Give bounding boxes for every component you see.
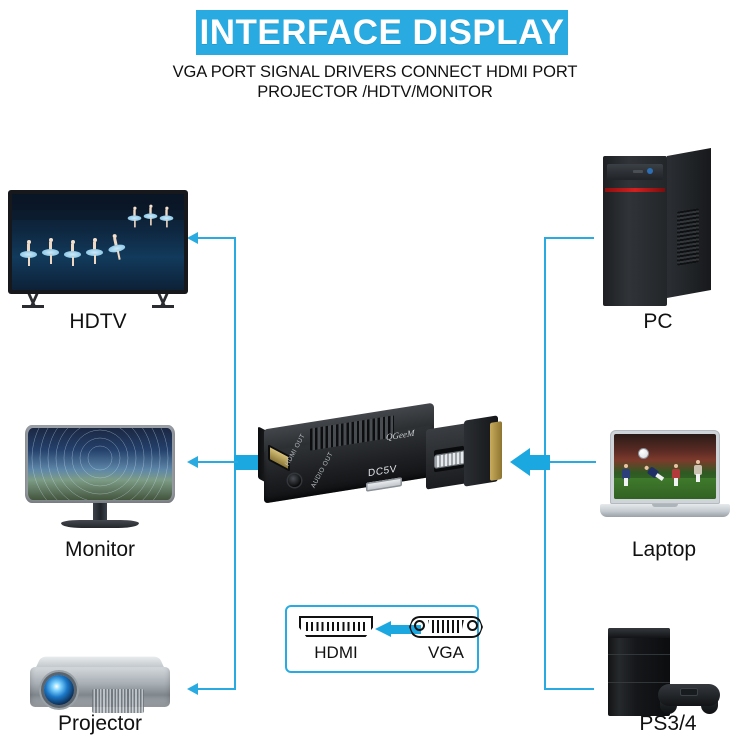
arrow-head-device-input xyxy=(510,448,530,476)
arrow-head-hdtv xyxy=(187,232,198,244)
device-projector xyxy=(30,655,170,715)
tv-bezel xyxy=(8,190,188,294)
laptop-lid xyxy=(610,430,720,504)
legend-box: HDMI VGA xyxy=(285,605,479,673)
label-pc: PC xyxy=(598,310,718,334)
arrow-head-projector xyxy=(187,683,198,695)
subtitle-line-1: VGA PORT SIGNAL DRIVERS CONNECT HDMI POR… xyxy=(0,62,750,82)
laptop-screen xyxy=(614,434,716,499)
tv-screen xyxy=(12,194,184,290)
ps-controller[interactable] xyxy=(658,678,720,712)
vga-pins-icon xyxy=(427,620,465,633)
device-ps-console xyxy=(608,628,738,723)
device-laptop xyxy=(600,430,730,530)
monitor-base xyxy=(61,520,139,528)
device-monitor xyxy=(25,425,175,530)
connector-line-pc xyxy=(544,237,594,239)
adapter-vga-gold-contacts xyxy=(490,421,502,481)
subtitle-line-2: PROJECTOR /HDTV/MONITOR xyxy=(0,82,750,102)
star-trails-graphic xyxy=(28,428,172,500)
legend-label-hdmi: HDMI xyxy=(299,643,373,663)
vga-screw-right-icon xyxy=(467,620,478,631)
vga-to-hdmi-adapter: QGeeM HDMI OUT AUDIO OUT DC5V xyxy=(258,408,513,512)
football-icon xyxy=(638,448,649,459)
hdmi-pins-icon xyxy=(306,622,366,631)
label-monitor: Monitor xyxy=(20,538,180,562)
label-laptop: Laptop xyxy=(598,538,730,562)
pc-red-stripe xyxy=(605,188,665,192)
legend-arrow-icon xyxy=(375,621,391,637)
connector-line-laptop xyxy=(544,461,596,463)
connector-line-hdtv xyxy=(198,237,236,239)
connector-line-monitor xyxy=(198,461,238,463)
vga-screw-left-icon xyxy=(414,620,425,631)
ps-touchpad[interactable] xyxy=(680,688,698,696)
pc-usb-ports xyxy=(633,170,643,173)
laptop-trackpad-notch xyxy=(652,504,678,507)
pc-side-vent xyxy=(677,208,699,265)
label-projector: Projector xyxy=(20,712,180,736)
legend-label-vga: VGA xyxy=(409,643,483,663)
connector-bar-device-input xyxy=(528,455,550,470)
pc-power-button[interactable] xyxy=(647,168,653,174)
page-title-banner: INTERFACE DISPLAY xyxy=(196,10,568,55)
projector-vent xyxy=(92,689,144,713)
arrow-head-monitor xyxy=(187,456,198,468)
page-subtitle: VGA PORT SIGNAL DRIVERS CONNECT HDMI POR… xyxy=(0,62,750,102)
projector-lens xyxy=(44,675,74,705)
label-ps: PS3/4 xyxy=(598,712,738,736)
ps-console-top xyxy=(608,628,670,638)
adapter-audio-jack xyxy=(288,474,301,487)
label-hdtv: HDTV xyxy=(8,310,188,334)
page-header: INTERFACE DISPLAY VGA PORT SIGNAL DRIVER… xyxy=(0,0,750,115)
connector-line-projector xyxy=(198,688,236,690)
monitor-screen xyxy=(28,428,172,500)
connector-line-ps xyxy=(544,688,594,690)
device-pc xyxy=(603,148,713,308)
monitor-panel xyxy=(25,425,175,503)
device-hdtv xyxy=(8,190,188,305)
tv-stand xyxy=(8,294,188,305)
page-title: INTERFACE DISPLAY xyxy=(199,15,564,50)
